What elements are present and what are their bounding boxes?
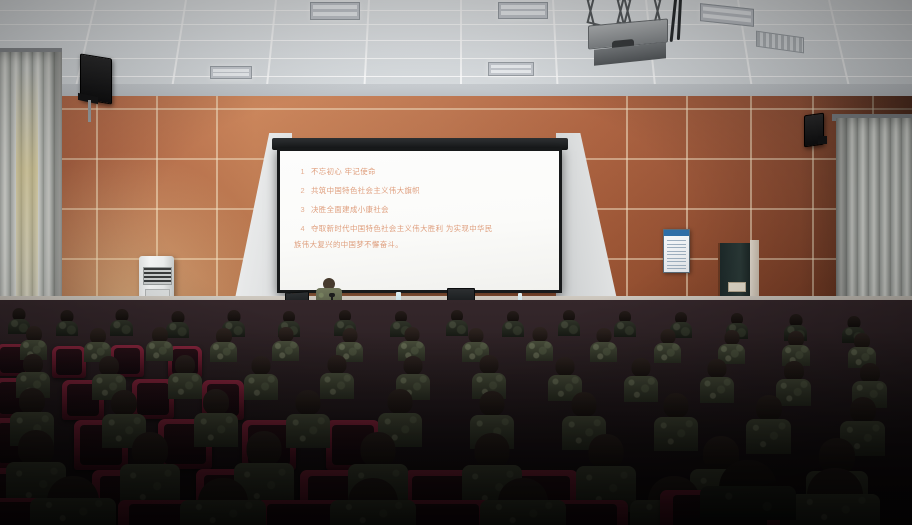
- slide-bullet: 4 夺取新时代中国特色社会主义伟大胜利 为实现中华民: [296, 224, 549, 234]
- slide-bullet-text: 夺取新时代中国特色社会主义伟大胜利 为实现中华民: [311, 224, 493, 234]
- ac-grille: [143, 267, 172, 285]
- audience-member: [526, 327, 553, 361]
- audience-member: [110, 309, 133, 336]
- slide-bullet: 3 决胜全面建成小康社会: [296, 205, 549, 215]
- audience-member: [502, 311, 524, 337]
- audience-member: [624, 358, 658, 402]
- slide-bullet-text: 共筑中国特色社会主义伟大旗帜: [311, 186, 420, 196]
- slide-bullet-text: 不忘初心 牢记使命: [311, 167, 376, 177]
- slide-bullet-text: 决胜全面建成小康社会: [311, 205, 389, 215]
- audience-member: [330, 478, 416, 525]
- recessed-louver-light: [310, 2, 360, 20]
- recessed-louver-light: [488, 62, 534, 76]
- projection-screen: 1 不忘初心 牢记使命 2 共筑中国特色社会主义伟大旗帜 3 决胜全面建成小康社…: [277, 148, 562, 293]
- audience-member: [244, 356, 278, 400]
- speaker-pole-left: [88, 100, 91, 122]
- audience-member: [210, 328, 237, 362]
- audience-member: [56, 310, 78, 336]
- recessed-louver-light: [498, 2, 548, 19]
- door-notice-sign: [728, 282, 746, 292]
- ceiling-air-vent: [756, 31, 804, 54]
- audience-member: [180, 478, 266, 525]
- audience-member: [790, 468, 880, 525]
- audience-member: [120, 432, 180, 510]
- audience-member: [558, 310, 580, 336]
- slide-bullet-number: 1: [296, 167, 305, 177]
- auditorium-seat[interactable]: [52, 346, 86, 378]
- audience-member: [700, 359, 734, 403]
- slide-bullet: 2 共筑中国特色社会主义伟大旗帜: [296, 186, 549, 196]
- audience-member: [30, 476, 116, 525]
- seated-audience: [0, 300, 912, 525]
- slide-bullet: 1 不忘初心 牢记使命: [296, 167, 549, 177]
- microphone-head: [329, 293, 335, 297]
- audience-member: [746, 395, 791, 454]
- slide-bullet-number: 3: [296, 205, 305, 215]
- audience-member: [480, 478, 566, 525]
- slide-content: 1 不忘初心 牢记使命 2 共筑中国特色社会主义伟大旗帜 3 决胜全面建成小康社…: [296, 167, 549, 250]
- audience-member: [194, 389, 238, 447]
- wall-notice-board: [663, 229, 690, 273]
- notice-text-lines: [667, 240, 686, 272]
- slide-continuation-text: 族伟大复兴的中国梦不懈奋斗。: [294, 239, 549, 250]
- audience-member: [614, 311, 636, 337]
- audience-member: [590, 328, 617, 362]
- speaker-bracket-right: [818, 136, 827, 144]
- slide-bullet-number: 4: [296, 224, 305, 234]
- screen-surface: 1 不忘初心 牢记使命 2 共筑中国特色社会主义伟大旗帜 3 决胜全面建成小康社…: [280, 151, 559, 290]
- auditorium-photo: 1 不忘初心 牢记使命 2 共筑中国特色社会主义伟大旗帜 3 决胜全面建成小康社…: [0, 0, 912, 525]
- slide-bullet-number: 2: [296, 186, 305, 196]
- recessed-louver-light: [210, 66, 252, 79]
- audience-member: [654, 329, 681, 363]
- audience-member: [700, 460, 796, 520]
- ceiling-projector: [576, 0, 696, 58]
- curtain-daylight-glow: [16, 70, 38, 320]
